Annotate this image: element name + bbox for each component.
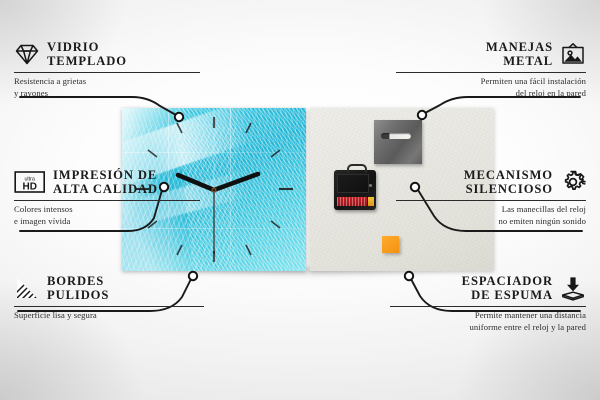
feature-metal-hooks: MANEJAS METAL Permiten una fácil instala… [396,40,586,100]
feature-title-line1: VIDRIO [47,40,127,54]
ultra-hd-label-bottom: HD [22,181,36,192]
feature-desc-line2: y rayones [14,88,200,100]
feature-foam-spacer: ESPACIADOR DE ESPUMA Permite mantener un… [390,274,586,334]
feature-title-line1: BORDES [47,274,109,288]
feature-desc-line1: Superficie lisa y segura [14,310,204,322]
feature-title-line2: SILENCIOSO [464,182,553,196]
hanging-picture-frame-icon [560,41,586,67]
feature-desc-line1: Permiten una fácil instalación [396,76,586,88]
feature-desc-line2: uniforme entre el reloj y la pared [390,322,586,334]
feature-desc-line1: Las manecillas del reloj [396,204,586,216]
feature-polished-edges: BORDES PULIDOS [14,274,204,322]
ultra-hd-icon: ultra HD [14,169,46,195]
feature-desc-line1: Resistencia a grietas [14,76,200,88]
feature-silent-mechanism: MECANISMO SILENCIOSO Las manecillas del … [396,168,586,228]
infographic-canvas: VIDRIO TEMPLADO Resistencia a grietas y … [0,0,600,400]
feature-desc-line1: Permite mantener una distancia [390,310,586,322]
feature-title-line1: MECANISMO [464,168,553,182]
feature-divider [396,200,586,201]
feature-divider [14,200,200,201]
feature-title-line2: DE ESPUMA [462,288,553,302]
feature-desc-line2: no emiten ningún sonido [396,216,586,228]
feature-title-line1: IMPRESIÓN DE [53,168,158,182]
feature-desc-line1: Colores intensos [14,204,200,216]
feature-tempered-glass: VIDRIO TEMPLADO Resistencia a grietas y … [14,40,200,100]
feature-divider [390,306,586,307]
feature-desc-line2: del reloj en la pared [396,88,586,100]
feature-divider [14,306,204,307]
gear-icon [560,169,586,195]
feature-title-line2: METAL [486,54,553,68]
connector-dot-tempered-glass [175,113,183,121]
feature-title-line1: MANEJAS [486,40,553,54]
feature-divider [396,72,586,73]
feature-title-line1: ESPACIADOR [462,274,553,288]
feature-divider [14,72,200,73]
diamond-icon [14,41,40,67]
connector-dot-metal-hooks [418,111,426,119]
diagonal-stripes-icon [14,275,40,301]
feature-desc-line2: e imagen vívida [14,216,200,228]
feature-title-line2: PULIDOS [47,288,109,302]
feature-title-line2: ALTA CALIDAD [53,182,158,196]
feature-hd-print: IMPRESIÓN DE ALTA CALIDAD ultra HD Color… [14,168,200,228]
feature-title-line2: TEMPLADO [47,54,127,68]
down-arrow-onto-slab-icon [560,275,586,301]
